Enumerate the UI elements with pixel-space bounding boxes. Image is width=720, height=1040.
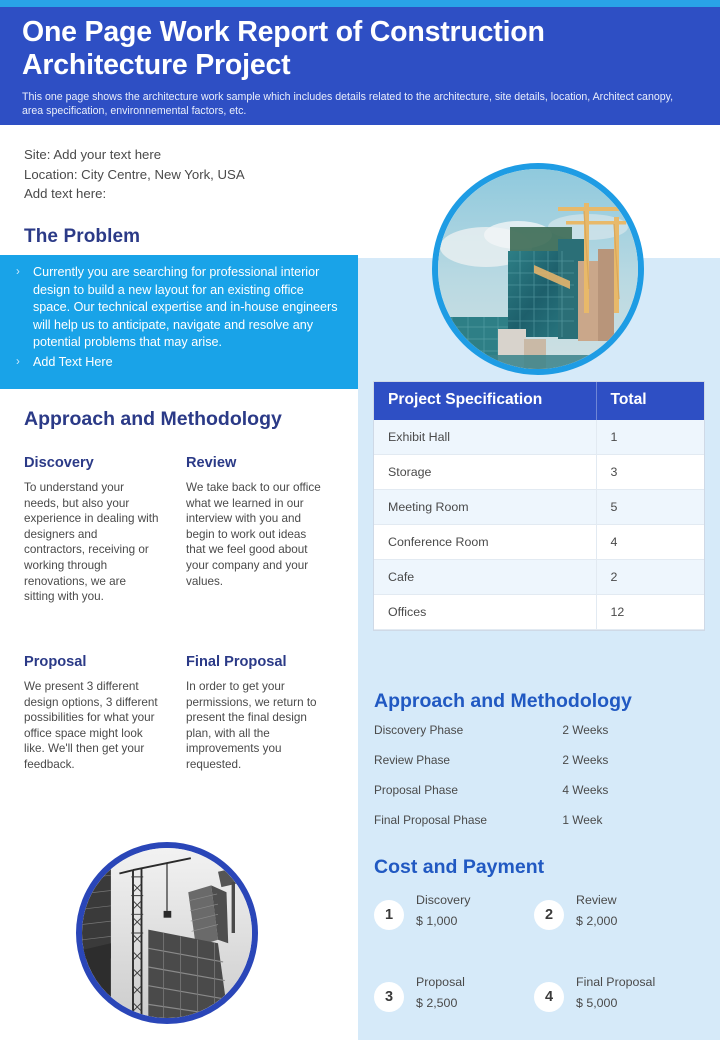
construction-photo-top [432,163,644,375]
table-row: Meeting Room 5 [374,489,704,524]
list-item: Proposal Phase 4 Weeks [374,783,694,813]
phase-name: Review Phase [374,753,559,767]
table-row: Cafe 2 [374,559,704,594]
page-subtitle: This one page shows the architecture wor… [22,90,687,118]
cell-total: 4 [596,524,704,559]
list-item: › Add Text Here [14,354,344,372]
cost-item-proposal: 3 Proposal $ 2,500 [374,975,534,1040]
chevron-right-icon: › [16,354,20,372]
step-number-badge: 4 [534,982,564,1012]
cost-label: Proposal [416,975,534,989]
cost-label: Review [576,893,694,907]
site-info-block: Site: Add your text here Location: City … [24,145,344,204]
step-number-badge: 3 [374,982,404,1012]
cost-amount: $ 1,000 [416,914,534,928]
cell-spec: Conference Room [374,524,596,559]
approach-card-heading: Discovery [24,455,159,471]
page-title: One Page Work Report of Construction Arc… [22,16,698,82]
cell-total: 1 [596,420,704,455]
report-page: One Page Work Report of Construction Arc… [0,0,720,1040]
site-line: Site: Add your text here [24,145,344,165]
table-row: Offices 12 [374,594,704,629]
cost-grid: 1 Discovery $ 1,000 2 Review $ 2,000 3 P… [374,893,704,1040]
approach-card-heading: Proposal [24,654,159,670]
cost-item-final-proposal: 4 Final Proposal $ 5,000 [534,975,694,1040]
construction-photo-bottom [76,842,258,1024]
approach-right-heading: Approach and Methodology [374,690,632,713]
phase-name: Discovery Phase [374,723,559,737]
phase-duration-list: Discovery Phase 2 Weeks Review Phase 2 W… [374,723,694,843]
cell-spec: Cafe [374,559,596,594]
cost-label: Final Proposal [576,975,694,989]
step-number-badge: 1 [374,900,404,930]
cell-total: 12 [596,594,704,629]
approach-card-review: Review We take back to our office what w… [186,455,321,589]
cell-spec: Exhibit Hall [374,420,596,455]
table-header-row: Project Specification Total [374,382,704,420]
list-item: › Currently you are searching for profes… [14,264,344,352]
table-row: Storage 3 [374,454,704,489]
cost-label: Discovery [416,893,534,907]
cell-spec: Offices [374,594,596,629]
approach-card-heading: Final Proposal [186,654,321,670]
cell-total: 5 [596,489,704,524]
problem-box: › Currently you are searching for profes… [0,255,358,389]
table-row: Exhibit Hall 1 [374,420,704,455]
cell-total: 2 [596,559,704,594]
table-row: Conference Room 4 [374,524,704,559]
location-line: Location: City Centre, New York, USA [24,165,344,185]
addtext-line: Add text here: [24,184,344,204]
approach-row-one: Discovery To understand your needs, but … [24,455,354,605]
cell-spec: Storage [374,454,596,489]
approach-card-final-proposal: Final Proposal In order to get your perm… [186,654,321,773]
column-header-total: Total [596,382,704,420]
crane-construction-illustration [82,848,252,1018]
list-item: Discovery Phase 2 Weeks [374,723,694,753]
problem-bullet-list: › Currently you are searching for profes… [14,264,344,372]
list-item: Review Phase 2 Weeks [374,753,694,783]
phase-duration: 2 Weeks [562,723,608,737]
page-header: One Page Work Report of Construction Arc… [0,7,720,125]
list-item: Final Proposal Phase 1 Week [374,813,694,843]
phase-name: Proposal Phase [374,783,559,797]
approach-card-discovery: Discovery To understand your needs, but … [24,455,159,605]
top-accent-strip [0,0,720,7]
list-item-text: Currently you are searching for professi… [33,265,338,349]
approach-left-heading: Approach and Methodology [24,408,282,431]
approach-card-heading: Review [186,455,321,471]
approach-card-body: To understand your needs, but also your … [24,480,159,605]
construction-site-illustration [438,169,638,369]
cost-heading: Cost and Payment [374,856,544,879]
problem-heading: The Problem [24,226,140,248]
cost-amount: $ 2,000 [576,914,694,928]
cost-amount: $ 2,500 [416,996,534,1010]
step-number-badge: 2 [534,900,564,930]
cost-item-discovery: 1 Discovery $ 1,000 [374,893,534,975]
phase-duration: 2 Weeks [562,753,608,767]
column-header-specification: Project Specification [374,382,596,420]
approach-card-proposal: Proposal We present 3 different design o… [24,654,159,773]
approach-row-two: Proposal We present 3 different design o… [24,654,354,773]
approach-card-body: We present 3 different design options, 3… [24,679,159,773]
phase-duration: 4 Weeks [562,783,608,797]
approach-card-body: We take back to our office what we learn… [186,480,321,589]
phase-name: Final Proposal Phase [374,813,559,827]
phase-duration: 1 Week [562,813,602,827]
cost-amount: $ 5,000 [576,996,694,1010]
cell-spec: Meeting Room [374,489,596,524]
list-item-text: Add Text Here [33,355,113,369]
project-specification-table: Project Specification Total Exhibit Hall… [374,382,704,630]
cell-total: 3 [596,454,704,489]
cost-item-review: 2 Review $ 2,000 [534,893,694,975]
approach-card-body: In order to get your permissions, we ret… [186,679,321,773]
chevron-right-icon: › [16,264,20,282]
